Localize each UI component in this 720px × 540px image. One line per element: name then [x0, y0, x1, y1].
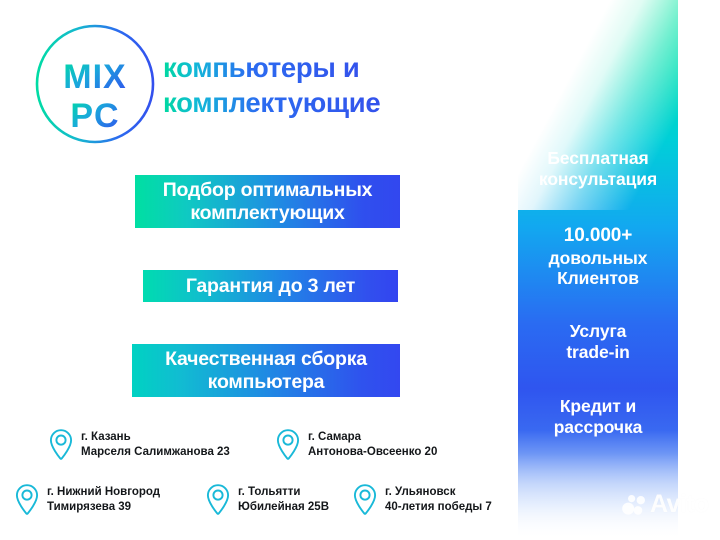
- location-address: Антонова-Овсеенко 20: [308, 445, 437, 460]
- benefit-line-2: консультация: [539, 169, 657, 189]
- location-city: г. Ульяновск: [385, 485, 492, 500]
- brand-logo: MIX PC: [33, 22, 157, 146]
- headline-line-2: комплектующие: [163, 86, 380, 121]
- benefit-line-2: trade-in: [566, 342, 629, 362]
- benefit-line-3: Клиентов: [557, 268, 639, 288]
- benefit-line-1: Бесплатная: [547, 148, 648, 168]
- map-pin-icon: [205, 483, 231, 517]
- map-pin-icon: [14, 483, 40, 517]
- feature-bar-quality-assembly: Качественная сборка компьютера: [132, 344, 400, 397]
- location-city: г. Казань: [81, 430, 230, 445]
- avito-logo-icon: [622, 494, 646, 516]
- feature-bar-optimal-components: Подбор оптимальных комплектующих: [135, 175, 400, 228]
- logo-circle-icon: MIX PC: [33, 22, 157, 146]
- feature-line-2: компьютера: [208, 371, 325, 393]
- logo-text-pc: PC: [70, 97, 119, 135]
- map-pin-icon: [275, 428, 301, 462]
- location-item-nizhny-novgorod: г. Нижний Новгород Тимирязева 39: [14, 483, 160, 517]
- benefit-line-2: довольных: [549, 248, 648, 268]
- location-item-ulyanovsk: г. Ульяновск 40-летия победы 7: [352, 483, 492, 517]
- location-text: г. Ульяновск 40-летия победы 7: [385, 485, 492, 515]
- benefits-list: Бесплатная консультация 10.000+ довольны…: [518, 0, 678, 540]
- avito-watermark: Avito: [622, 492, 709, 517]
- location-text: г. Самара Антонова-Овсеенко 20: [308, 430, 437, 460]
- location-item-kazan: г. Казань Марселя Салимжанова 23: [48, 428, 230, 462]
- logo-text-mix: MIX: [63, 58, 126, 96]
- map-pin-icon: [352, 483, 378, 517]
- map-pin-icon: [48, 428, 74, 462]
- location-address: 40-летия победы 7: [385, 500, 492, 515]
- location-address: Юбилейная 25В: [238, 500, 329, 515]
- location-item-samara: г. Самара Антонова-Овсеенко 20: [275, 428, 437, 462]
- location-city: г. Нижний Новгород: [47, 485, 160, 500]
- benefit-item-consultation: Бесплатная консультация: [523, 148, 673, 189]
- location-item-tolyatti: г. Тольятти Юбилейная 25В: [205, 483, 329, 517]
- benefit-line-1: Кредит и: [560, 396, 636, 416]
- avito-wordmark: Avito: [650, 492, 709, 517]
- feature-line-1: Гарантия до 3 лет: [186, 275, 355, 297]
- benefit-item-credit: Кредит и рассрочка: [523, 396, 673, 437]
- location-text: г. Тольятти Юбилейная 25В: [238, 485, 329, 515]
- location-text: г. Казань Марселя Салимжанова 23: [81, 430, 230, 460]
- feature-line-1: Подбор оптимальных: [163, 179, 373, 201]
- promo-banner: Бесплатная консультация 10.000+ довольны…: [0, 0, 720, 540]
- benefit-item-trade-in: Услуга trade-in: [523, 321, 673, 362]
- benefit-line-2: рассрочка: [554, 417, 643, 437]
- feature-bar-warranty: Гарантия до 3 лет: [143, 270, 398, 302]
- location-city: г. Самара: [308, 430, 437, 445]
- feature-line-2: комплектующих: [190, 202, 344, 224]
- location-text: г. Нижний Новгород Тимирязева 39: [47, 485, 160, 515]
- page-title: компьютеры и комплектующие: [163, 51, 503, 121]
- location-address: Тимирязева 39: [47, 500, 160, 515]
- benefit-line-1: Услуга: [570, 321, 627, 341]
- benefit-item-clients: 10.000+ довольных Клиентов: [523, 225, 673, 289]
- benefit-count: 10.000+: [523, 225, 673, 247]
- location-address: Марселя Салимжанова 23: [81, 445, 230, 460]
- headline-line-1: компьютеры и: [163, 51, 360, 86]
- feature-line-1: Качественная сборка: [165, 348, 367, 370]
- location-city: г. Тольятти: [238, 485, 329, 500]
